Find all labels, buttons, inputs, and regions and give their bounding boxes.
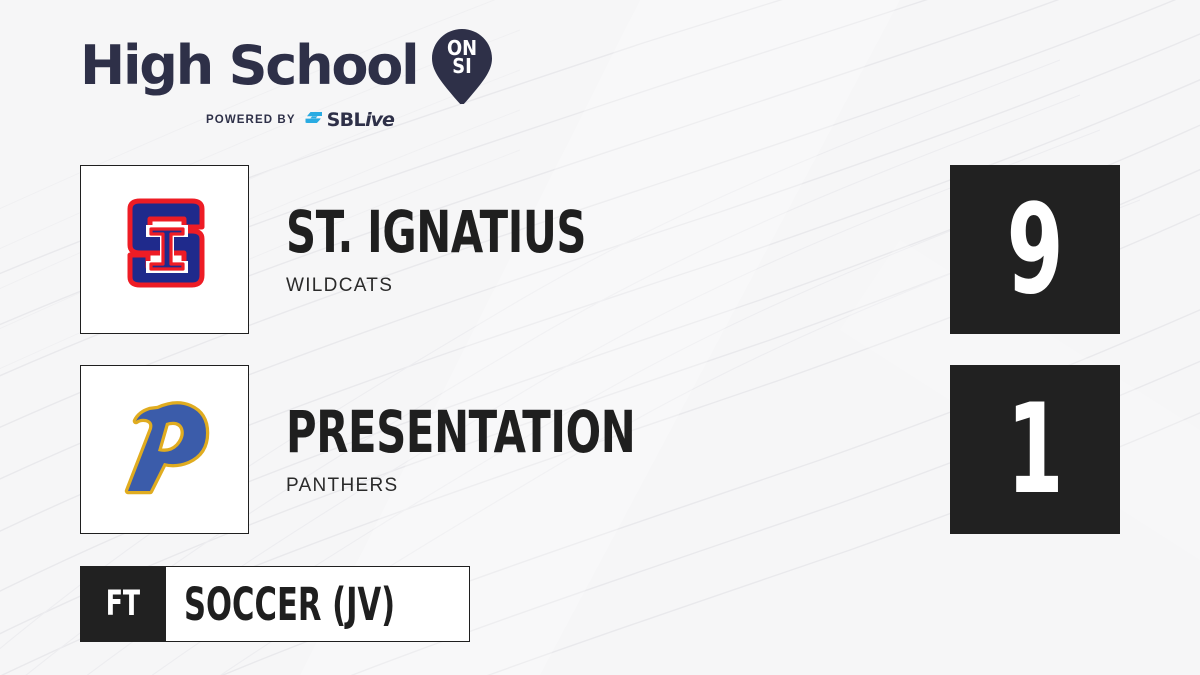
on-si-pin-icon: ON SI [431,28,493,104]
team-score: 9 [1007,188,1064,312]
pin-text-si: SI [453,55,472,78]
sblive-logo: SBLive [304,110,394,130]
status-badge: FT [80,566,166,642]
team-score-box: 9 [950,165,1120,334]
sblive-wordmark: SBLive [327,111,394,130]
team-score: 1 [1007,388,1064,512]
team-mascot: WILDCATS [286,275,703,297]
sport-label-text: SOCCER (JV) [184,582,395,627]
team-name: PRESENTATION [286,403,635,461]
powered-by-row: POWERED BY SBLive [206,110,394,130]
team-mascot: PANTHERS [286,475,771,497]
team-score-box: 1 [950,365,1120,534]
team-logo-presentation [80,365,249,534]
powered-by-label: POWERED BY [206,114,296,126]
page-title: High School [80,39,417,93]
status-code-text: FT [106,587,140,622]
scoreboard-graphic: High School ON SI POWERED BY [0,0,1200,675]
team-info-presentation: PRESENTATION PANTHERS [286,365,771,534]
sblive-word-main: SBL [327,109,365,131]
brand-title-row: High School ON SI [80,28,493,104]
brand-header: High School ON SI POWERED BY [80,28,493,130]
team-info-st-ignatius: ST. IGNATIUS WILDCATS [286,165,703,334]
sport-label-panel: SOCCER (JV) [166,566,470,642]
sblive-s-mark [304,110,324,130]
sblive-word-italic: ive [365,109,394,131]
game-status-bar: FT SOCCER (JV) [80,566,470,642]
team-logo-st-ignatius [80,165,249,334]
team-name: ST. IGNATIUS [286,203,586,261]
